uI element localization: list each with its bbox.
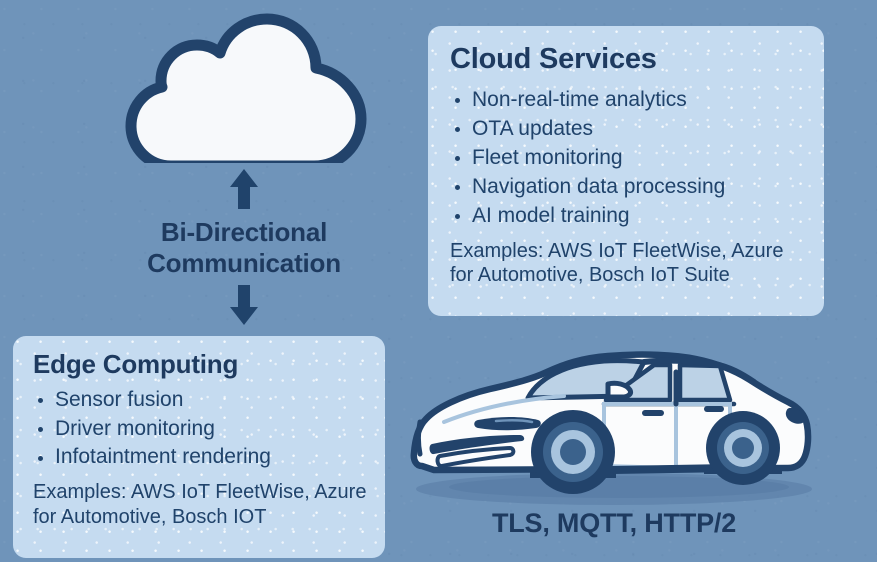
sedan-car-illustration [404, 348, 814, 513]
edge-computing-list: Sensor fusion Driver monitoring Infotain… [33, 386, 367, 472]
list-item-label: Navigation data processing [472, 175, 725, 198]
cloud-services-title: Cloud Services [450, 44, 804, 76]
edge-computing-title: Edge Computing [33, 350, 367, 379]
list-item-label: Fleet monitoring [472, 146, 623, 169]
cloud-services-list: Non-real-time analytics OTA updates Flee… [450, 86, 804, 230]
bidi-line-1: Bi-Directional [161, 217, 327, 247]
list-item-label: Sensor fusion [55, 388, 183, 411]
bullet-dot-icon [38, 456, 43, 461]
list-item: Non-real-time analytics [450, 86, 804, 114]
bullet-dot-icon [455, 98, 460, 103]
list-item: OTA updates [450, 115, 804, 143]
bullet-dot-icon [455, 156, 460, 161]
list-item: Fleet monitoring [450, 144, 804, 172]
bullet-dot-icon [38, 398, 43, 403]
edge-computing-examples: Examples: AWS IoT FleetWise, Azure for A… [33, 480, 367, 529]
bidirectional-link-group: Bi-Directional Communication [96, 168, 392, 326]
list-item: Infotaintment rendering [33, 443, 367, 471]
bullet-dot-icon [455, 127, 460, 132]
bidirectional-communication-label: Bi-Directional Communication [96, 217, 392, 278]
edge-computing-card: Edge Computing Sensor fusion Driver moni… [13, 336, 385, 558]
cloud-icon [118, 8, 368, 168]
cloud-services-examples: Examples: AWS IoT FleetWise, Azure for A… [450, 239, 804, 288]
list-item: Navigation data processing [450, 173, 804, 201]
diagram-canvas: Cloud Services Non-real-time analytics O… [0, 0, 877, 562]
list-item-label: Non-real-time analytics [472, 88, 687, 111]
bidi-line-2: Communication [147, 248, 341, 278]
arrow-up-icon [229, 168, 259, 210]
list-item-label: OTA updates [472, 117, 593, 140]
bullet-dot-icon [455, 185, 460, 190]
list-item: AI model training [450, 202, 804, 230]
list-item: Sensor fusion [33, 386, 367, 414]
bullet-dot-icon [455, 214, 460, 219]
cloud-services-card: Cloud Services Non-real-time analytics O… [428, 26, 824, 316]
protocol-label: TLS, MQTT, HTTP/2 [404, 508, 824, 539]
list-item-label: Driver monitoring [55, 417, 215, 440]
arrow-down-icon [229, 284, 259, 326]
list-item-label: AI model training [472, 204, 630, 227]
bullet-dot-icon [38, 427, 43, 432]
list-item-label: Infotaintment rendering [55, 445, 271, 468]
list-item: Driver monitoring [33, 415, 367, 443]
